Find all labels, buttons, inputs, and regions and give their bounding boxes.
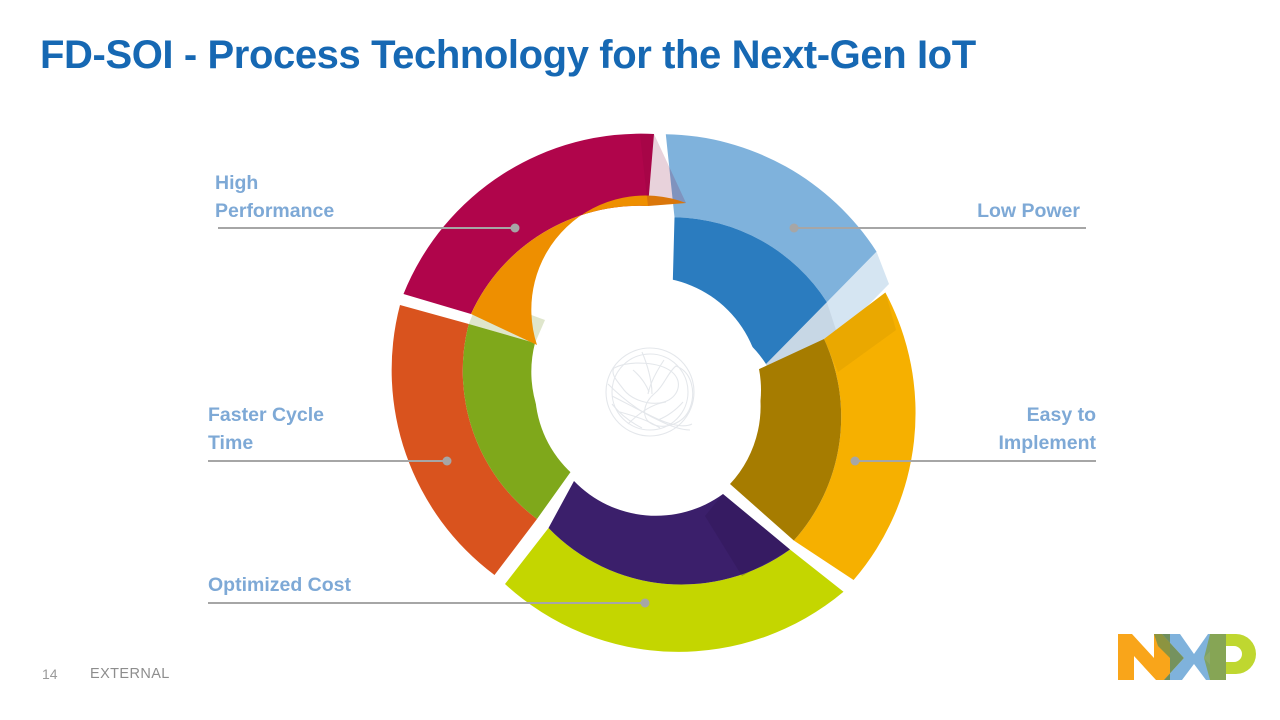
footer-page-number: 14 [42,666,58,682]
leader-dot-easy-to-implement [851,457,860,466]
leader-dot-optimized-cost [641,599,650,608]
wheel-label-faster-cycle-time[interactable]: Faster Cycle Time [208,401,468,458]
wheel-label-easy-to-implement[interactable]: Easy to Implement [796,401,1096,458]
nxp-logo-svg [1118,628,1256,686]
wheel-label-high-performance[interactable]: High Performance [215,169,475,226]
wheel-label-low-power[interactable]: Low Power [780,197,1080,225]
footer-classification: EXTERNAL [90,666,170,682]
wheel-label-optimized-cost[interactable]: Optimized Cost [208,571,528,599]
leader-dot-faster-cycle-time [443,457,452,466]
wheel-svg [0,0,1280,720]
leader-dot-high-performance [511,224,520,233]
slide: FD-SOI - Process Technology for the Next… [0,0,1280,720]
nxp-logo [1118,628,1256,686]
benefits-wheel [0,0,1280,720]
